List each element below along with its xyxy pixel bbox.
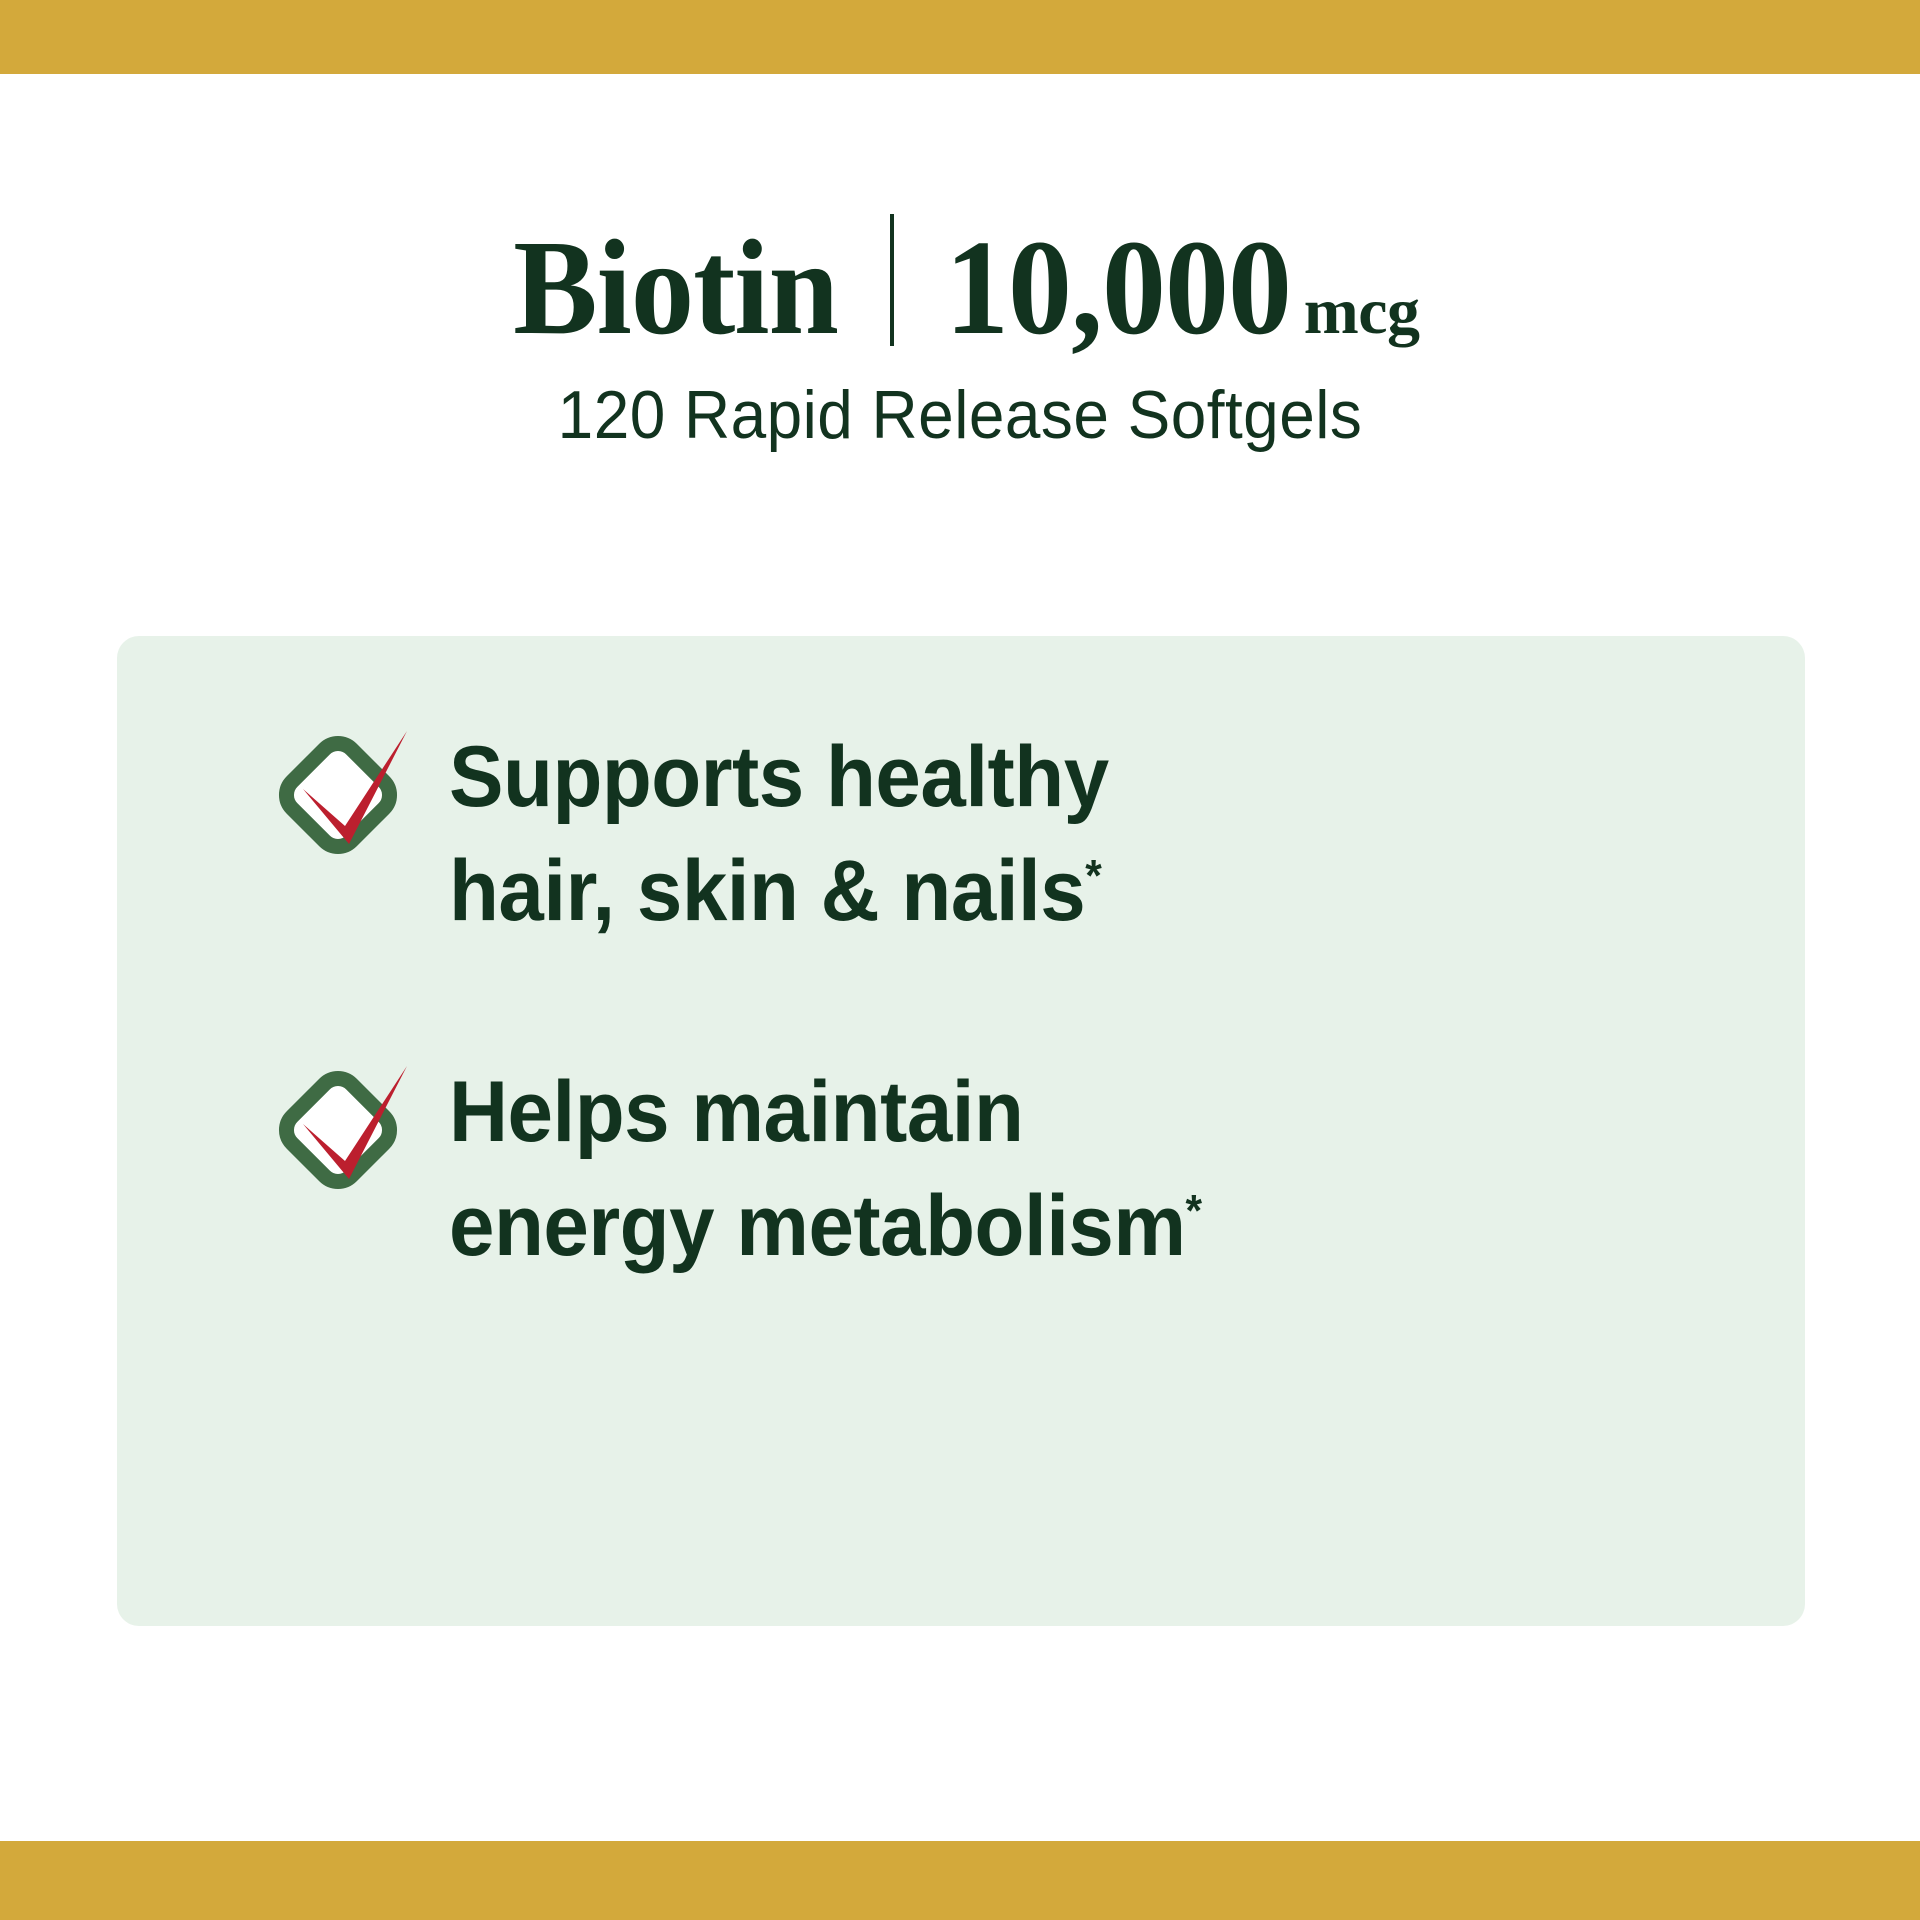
- benefit-line-1: Supports healthy: [449, 729, 1109, 825]
- benefit-line-1: Helps maintain: [449, 1064, 1023, 1160]
- checkmark-diamond-icon: [277, 1062, 417, 1194]
- checkmark-diamond-icon: [277, 727, 417, 859]
- benefit-text: Supports healthy hair, skin & nails*: [449, 721, 1109, 948]
- top-gold-band: [0, 0, 1920, 74]
- title-divider-rule: [890, 214, 894, 346]
- product-benefits-panel: Biotin 10,000 mcg 120 Rapid Release Soft…: [0, 0, 1920, 1920]
- footnote-marker: *: [1186, 1186, 1202, 1235]
- benefit-item: Supports healthy hair, skin & nails*: [277, 721, 1735, 948]
- dosage-amount: 10,000: [945, 220, 1291, 356]
- product-header: Biotin 10,000 mcg 120 Rapid Release Soft…: [0, 220, 1920, 453]
- product-name: Biotin: [513, 220, 838, 356]
- product-title-line: Biotin 10,000 mcg: [0, 220, 1920, 356]
- dosage-unit: mcg: [1304, 279, 1420, 345]
- benefit-line-2: hair, skin & nails: [449, 843, 1085, 939]
- benefit-item: Helps maintain energy metabolism*: [277, 1056, 1735, 1283]
- benefit-line-2: energy metabolism: [449, 1178, 1186, 1274]
- benefits-card: Supports healthy hair, skin & nails* Hel…: [117, 636, 1805, 1626]
- product-subtitle: 120 Rapid Release Softgels: [58, 378, 1863, 453]
- bottom-gold-band: [0, 1841, 1920, 1920]
- benefit-text: Helps maintain energy metabolism*: [449, 1056, 1202, 1283]
- footnote-marker: *: [1085, 851, 1101, 900]
